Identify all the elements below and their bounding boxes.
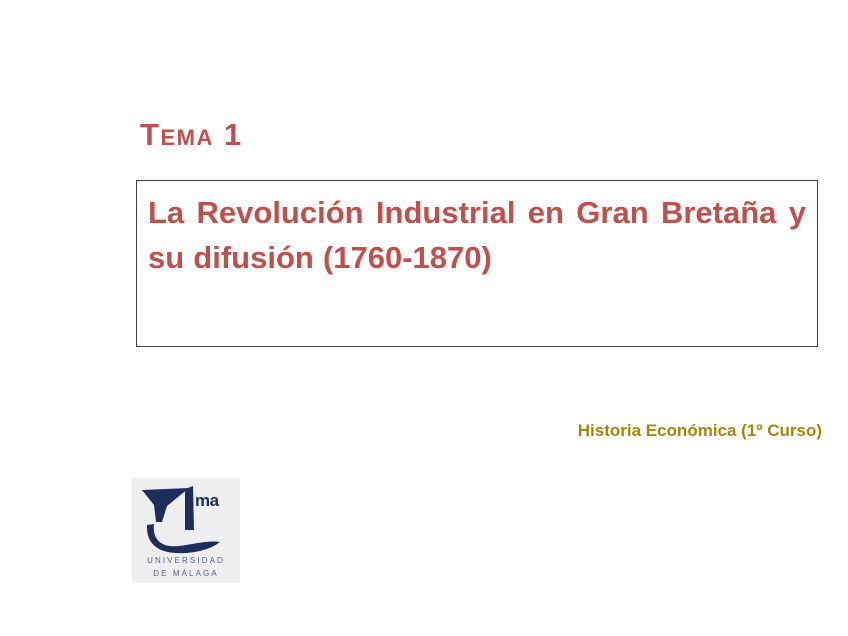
university-logo: ma UNIVERSIDAD DE MÁLAGA <box>132 478 240 583</box>
topic-heading: Tema 1 <box>140 116 243 154</box>
title-slide: Tema 1 La Revolución Industrial en Gran … <box>0 0 848 636</box>
logo-caption-line-2: DE MÁLAGA <box>132 567 240 580</box>
title-box: La Revolución Industrial en Gran Bretaña… <box>136 180 818 347</box>
logo-caption: UNIVERSIDAD DE MÁLAGA <box>132 554 240 580</box>
page-title: La Revolución Industrial en Gran Bretaña… <box>148 190 806 280</box>
uma-logo-icon <box>132 478 240 556</box>
course-label: Historia Económica (1º Curso) <box>0 420 822 442</box>
logo-wordmark: ma <box>195 492 219 509</box>
logo-caption-line-1: UNIVERSIDAD <box>132 554 240 567</box>
